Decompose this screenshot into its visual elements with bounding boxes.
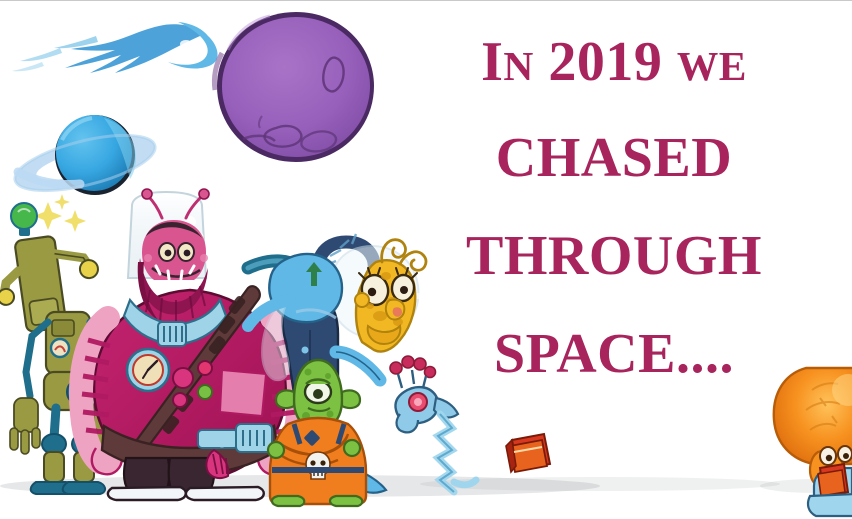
headline: IN 2019 WE CHASED THROUGH SPACE.... [392,34,836,382]
headline-line-3: THROUGH [392,228,836,284]
headline-word-in-n: N [503,43,533,89]
headline-word-we: WE [677,43,747,89]
ringed-planet-icon [10,115,160,202]
purple-planet-icon [214,12,374,162]
headline-line-2: CHASED [392,130,836,186]
chest-gauge [127,349,169,391]
headline-year: 2019 [534,31,677,93]
headline-line-4: SPACE.... [392,326,836,382]
orange-alien-icon [774,368,852,516]
headline-word-in-i: I [481,31,503,93]
floating-book-icon [506,434,550,472]
slide-canvas: IN 2019 WE CHASED THROUGH SPACE.... [0,0,852,519]
comet-icon [12,22,218,73]
headline-line-1: IN 2019 WE [392,34,836,90]
